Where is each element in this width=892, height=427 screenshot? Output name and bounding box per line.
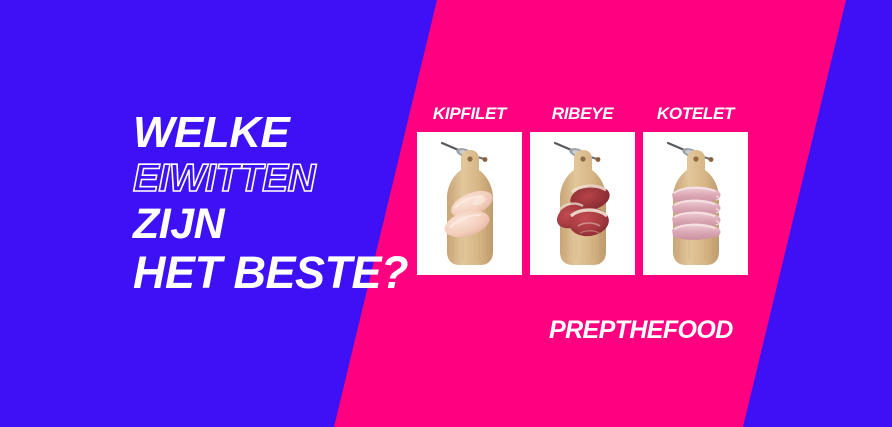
product-label-kipfilet: KIPFILET: [433, 104, 506, 124]
product-card-row: KIPFILET: [417, 104, 748, 275]
promo-banner: WELKE EIWITTEN ZIJN HET BESTE? KIPFILET: [0, 0, 892, 427]
headline-line-4: HET BESTE?: [133, 251, 463, 295]
product-card-kipfilet[interactable]: KIPFILET: [417, 104, 522, 275]
headline: WELKE EIWITTEN ZIJN HET BESTE?: [133, 112, 463, 295]
ribeye-steak-icon: [552, 178, 614, 246]
headline-line-3: ZIJN: [133, 204, 463, 246]
headline-line-2-outlined: EIWITTEN: [133, 160, 463, 198]
chicken-breast-icon: [441, 184, 499, 246]
brand-logo[interactable]: PREPTHEFOOD: [549, 316, 733, 345]
product-card-ribeye[interactable]: RIBEYE: [530, 104, 635, 275]
pork-chops-icon: [666, 178, 726, 248]
product-photo-ribeye: [530, 132, 635, 275]
headline-line-1: WELKE: [133, 112, 463, 155]
product-card-kotelet[interactable]: KOTELET: [643, 104, 748, 275]
product-label-kotelet: KOTELET: [657, 104, 734, 124]
product-label-ribeye: RIBEYE: [552, 104, 614, 124]
product-photo-kotelet: [643, 132, 748, 275]
product-photo-kipfilet: [417, 132, 522, 275]
